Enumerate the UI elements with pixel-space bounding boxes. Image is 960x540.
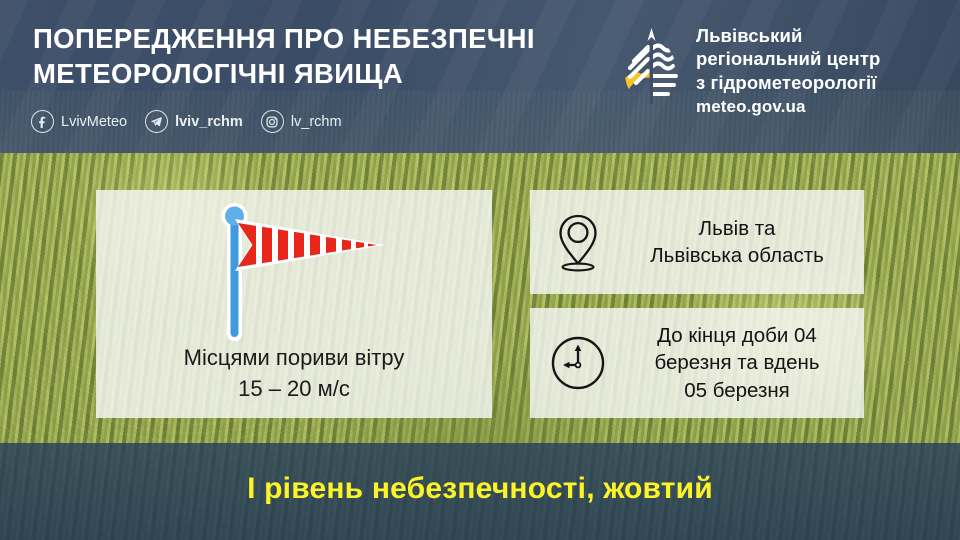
telegram-icon <box>145 110 168 133</box>
danger-level-text: І рівень небезпечності, жовтий <box>247 472 713 506</box>
logo-website-url[interactable]: meteo.gov.ua <box>696 96 880 118</box>
water-droplet-logo-icon <box>620 24 683 108</box>
location-line1: Львів та <box>626 215 848 242</box>
time-text: До кінця доби 04 березня та вдень 05 бер… <box>626 322 864 404</box>
social-link-facebook[interactable]: LvivMeteo <box>31 110 127 133</box>
logo-line2: регіональний центр <box>696 48 880 69</box>
page-title-line1: ПОПЕРЕДЖЕННЯ ПРО НЕБЕЗПЕЧНІ <box>33 23 535 54</box>
time-panel: До кінця доби 04 березня та вдень 05 бер… <box>530 308 864 418</box>
map-pin-icon <box>530 211 626 273</box>
location-line2: Львівська область <box>626 242 848 269</box>
wind-description: Місцями пориви вітру 15 – 20 м/с <box>96 342 492 404</box>
logo-wordmark: Львівський регіональний центр з гідромет… <box>696 24 880 118</box>
page-title-line2: МЕТЕОРОЛОГІЧНІ ЯВИЩА <box>33 57 613 92</box>
clock-icon <box>530 334 626 392</box>
danger-level-banner: І рівень небезпечності, жовтий <box>0 443 960 540</box>
social-links: LvivMeteo lviv_rchm lv <box>31 110 353 133</box>
wind-description-line1: Місцями пориви вітру <box>184 345 405 370</box>
instagram-icon <box>261 110 284 133</box>
page-title: ПОПЕРЕДЖЕННЯ ПРО НЕБЕЗПЕЧНІ МЕТЕОРОЛОГІЧ… <box>33 22 613 92</box>
wind-warning-panel: Місцями пориви вітру 15 – 20 м/с <box>96 190 492 418</box>
social-handle-instagram: lv_rchm <box>291 114 342 130</box>
social-handle-facebook: LvivMeteo <box>61 114 127 130</box>
wind-warning-pennant-icon <box>96 196 492 348</box>
time-line2: березня та вдень <box>626 349 848 376</box>
location-panel: Львів та Львівська область <box>530 190 864 294</box>
warning-infographic: ПОПЕРЕДЖЕННЯ ПРО НЕБЕЗПЕЧНІ МЕТЕОРОЛОГІЧ… <box>0 0 960 540</box>
social-link-instagram[interactable]: lv_rchm <box>261 110 342 133</box>
time-line1: До кінця доби 04 <box>626 322 848 349</box>
logo-line3: з гідрометеорології <box>696 72 877 93</box>
header-band: ПОПЕРЕДЖЕННЯ ПРО НЕБЕЗПЕЧНІ МЕТЕОРОЛОГІЧ… <box>0 0 960 153</box>
organisation-logo[interactable]: Львівський регіональний центр з гідромет… <box>620 24 880 118</box>
time-line3: 05 березня <box>626 377 848 404</box>
location-text: Львів та Львівська область <box>626 215 864 270</box>
social-handle-telegram: lviv_rchm <box>175 114 243 130</box>
social-link-telegram[interactable]: lviv_rchm <box>145 110 243 133</box>
facebook-icon <box>31 110 54 133</box>
logo-line1: Львівський <box>696 25 802 46</box>
wind-speed-value: 15 – 20 м/с <box>96 373 492 404</box>
